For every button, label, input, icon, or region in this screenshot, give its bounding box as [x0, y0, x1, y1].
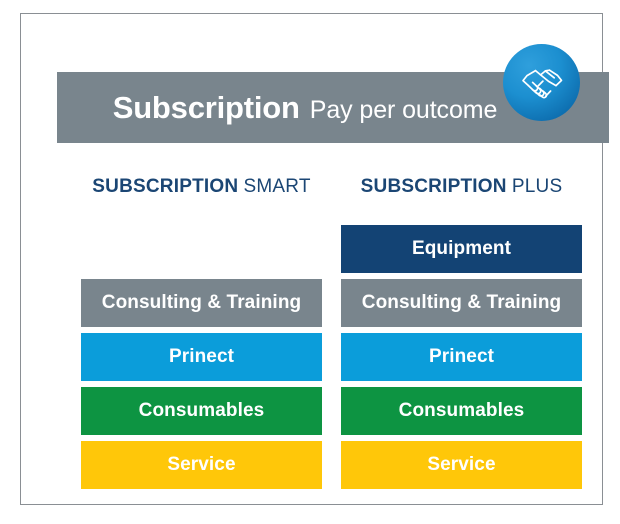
bar-label: Prinect: [429, 346, 494, 368]
bar-equipment-plus[interactable]: Equipment: [341, 225, 582, 273]
column-heading-plus-light: PLUS: [512, 176, 562, 197]
bar-spacer-smart: [81, 225, 322, 273]
column-heading-smart: SUBSCRIPTION SMART: [81, 174, 322, 200]
stack-smart: Consulting & Training Prinect Consumable…: [81, 225, 322, 489]
bar-service-smart[interactable]: Service: [81, 441, 322, 489]
bar-service-plus[interactable]: Service: [341, 441, 582, 489]
page-title: Subscription: [113, 90, 300, 126]
bar-consumables-plus[interactable]: Consumables: [341, 387, 582, 435]
handshake-icon: [503, 44, 580, 121]
column-heading-smart-light: SMART: [244, 176, 311, 197]
bar-consumables-smart[interactable]: Consumables: [81, 387, 322, 435]
stack-plus: Equipment Consulting & Training Prinect …: [341, 225, 582, 489]
column-heading-smart-strong: SUBSCRIPTION: [92, 176, 238, 197]
bar-prinect-smart[interactable]: Prinect: [81, 333, 322, 381]
page-subtitle: Pay per outcome: [310, 96, 498, 125]
bar-consulting-plus[interactable]: Consulting & Training: [341, 279, 582, 327]
header-text: Subscription Pay per outcome: [113, 90, 498, 126]
bar-label: Prinect: [169, 346, 234, 368]
bar-label: Consumables: [399, 400, 525, 422]
column-heading-plus: SUBSCRIPTION PLUS: [341, 174, 582, 200]
bar-label: Service: [167, 454, 235, 476]
bar-label: Equipment: [412, 238, 511, 260]
bar-label: Service: [427, 454, 495, 476]
bar-prinect-plus[interactable]: Prinect: [341, 333, 582, 381]
bar-label: Consumables: [139, 400, 265, 422]
slide-frame: Subscription Pay per outcome: [20, 13, 603, 505]
bar-label: Consulting & Training: [102, 292, 301, 314]
column-heading-plus-strong: SUBSCRIPTION: [361, 176, 507, 197]
bar-consulting-smart[interactable]: Consulting & Training: [81, 279, 322, 327]
bar-label: Consulting & Training: [362, 292, 561, 314]
